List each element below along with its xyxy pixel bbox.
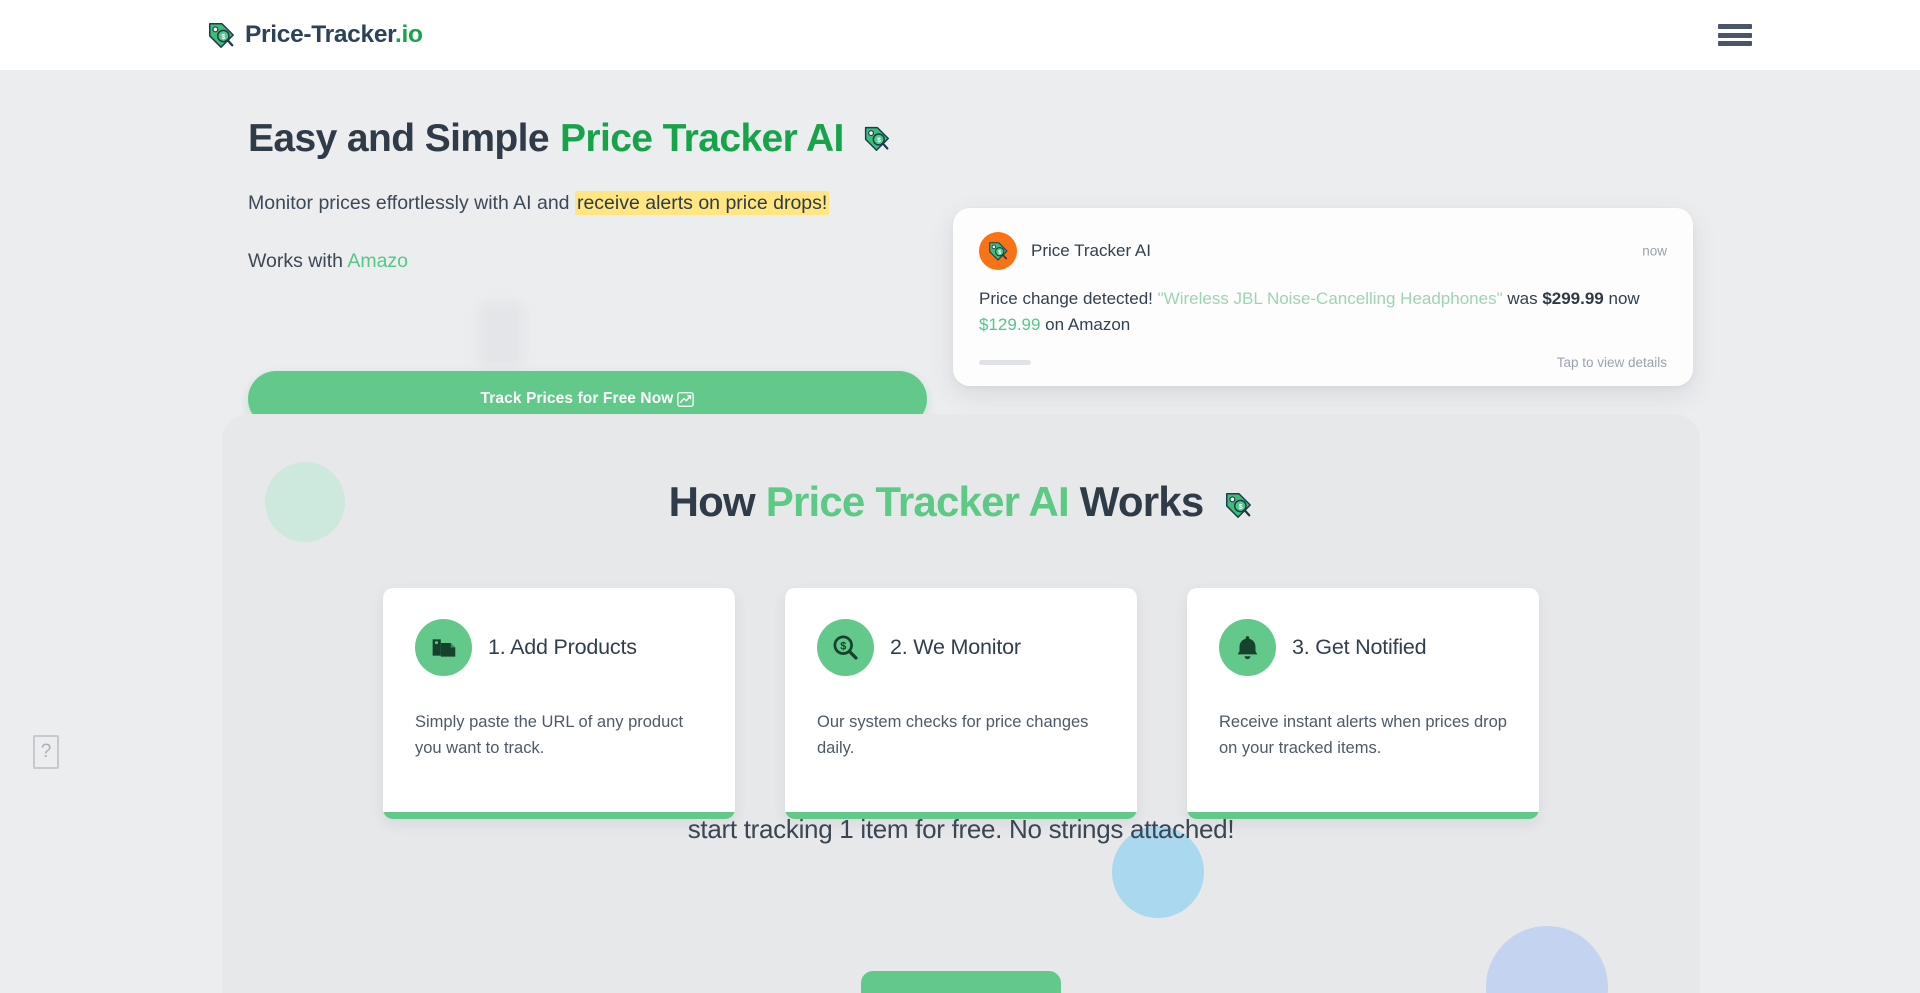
hamburger-menu-icon[interactable] xyxy=(1718,22,1752,48)
missing-glyph-placeholder: ? xyxy=(33,735,59,769)
svg-text:$: $ xyxy=(998,250,1001,256)
step-card-we-monitor[interactable]: $ 2. We Monitor Our system checks for pr… xyxy=(785,588,1137,819)
hero-title-accent: Price Tracker AI xyxy=(549,115,844,163)
hero-works-with: Works with Amazo xyxy=(248,250,968,273)
notification-product-name: "Wireless JBL Noise-Cancelling Headphone… xyxy=(1158,289,1503,308)
how-title-pre: How xyxy=(669,478,766,525)
step-card-title: 2. We Monitor xyxy=(890,635,1021,660)
step-card-header: $ 2. We Monitor xyxy=(817,619,1105,676)
line-chart-icon xyxy=(677,392,694,407)
notification-suffix: on Amazon xyxy=(1040,315,1130,334)
avatar: $ xyxy=(979,232,1017,270)
step-card-get-notified[interactable]: 3. Get Notified Receive instant alerts w… xyxy=(1187,588,1539,819)
notification-was-label: was xyxy=(1503,289,1543,308)
hamburger-bar-3 xyxy=(1718,41,1752,46)
free-tier-tagline: start tracking 1 item for free. No strin… xyxy=(222,814,1700,845)
notification-timestamp: now xyxy=(1642,244,1667,259)
hero-copy: Easy and SimplePrice Tracker AI $ Monito… xyxy=(248,115,968,273)
step-icon-wrapper xyxy=(415,619,472,676)
step-icon-wrapper: $ xyxy=(817,619,874,676)
brand-logo[interactable]: $ Price-Tracker.io xyxy=(206,20,423,50)
brand-name-tld: .io xyxy=(395,21,423,48)
hero-works-typed-value: Amazo xyxy=(347,250,408,272)
brand-name-dark: Price-Tracker xyxy=(245,21,395,48)
hero-section: Easy and SimplePrice Tracker AI $ Monito… xyxy=(0,70,1920,410)
magnifier-dollar-icon: $ xyxy=(831,633,860,662)
step-card-header: 3. Get Notified xyxy=(1219,619,1507,676)
copy-tag-icon xyxy=(429,633,458,662)
notification-tap-hint: Tap to view details xyxy=(1557,355,1667,370)
svg-text:$: $ xyxy=(840,640,846,652)
how-it-works-section: How Price Tracker AI Works$ 1. Add Produ… xyxy=(222,414,1700,993)
hamburger-bar-1 xyxy=(1718,24,1752,29)
notification-footer: Tap to view details xyxy=(979,355,1667,370)
notification-now-label: now xyxy=(1604,289,1640,308)
notification-body-prefix: Price change detected! xyxy=(979,289,1158,308)
step-card-description: Receive instant alerts when prices drop … xyxy=(1219,710,1507,761)
notification-app-name: Price Tracker AI xyxy=(1031,241,1151,261)
price-tag-icon: $ xyxy=(862,124,891,153)
step-card-description: Simply paste the URL of any product you … xyxy=(415,710,703,761)
hero-subtitle-plain: Monitor prices effortlessly with AI and xyxy=(248,192,575,214)
cta-hero-label: Track Prices for Free Now xyxy=(481,390,674,408)
price-tag-icon: $ xyxy=(987,240,1009,262)
step-card-description: Our system checks for price changes dail… xyxy=(817,710,1105,761)
hero-title-plain: Easy and Simple xyxy=(248,115,549,163)
how-title-post: Works xyxy=(1069,478,1203,525)
step-card-header: 1. Add Products xyxy=(415,619,703,676)
bell-icon xyxy=(1233,633,1262,662)
price-alert-notification-card[interactable]: $ Price Tracker AI now Price change dete… xyxy=(953,208,1693,386)
how-it-works-title: How Price Tracker AI Works$ xyxy=(222,478,1700,526)
step-icon-wrapper xyxy=(1219,619,1276,676)
step-card-add-products[interactable]: 1. Add Products Simply paste the URL of … xyxy=(383,588,735,819)
steps-card-list: 1. Add Products Simply paste the URL of … xyxy=(222,588,1700,819)
notification-body: Price change detected! "Wireless JBL Noi… xyxy=(979,286,1667,339)
hero-works-label: Works with xyxy=(248,250,347,272)
hamburger-bar-2 xyxy=(1718,33,1752,38)
notification-old-price: $299.99 xyxy=(1542,289,1603,308)
hero-title: Easy and SimplePrice Tracker AI $ xyxy=(248,115,968,163)
notification-progress-bar xyxy=(979,360,1031,365)
brand-name: Price-Tracker.io xyxy=(245,21,423,49)
notification-new-price: $129.99 xyxy=(979,315,1040,334)
landing-page: $ Price-Tracker.io Easy and SimplePrice … xyxy=(0,0,1920,993)
svg-text:$: $ xyxy=(221,34,225,41)
how-title-accent: Price Tracker AI xyxy=(766,478,1069,525)
hero-subtitle-highlight: receive alerts on price drops! xyxy=(575,191,829,215)
price-tag-icon: $ xyxy=(1223,490,1253,520)
bottom-cta-button[interactable] xyxy=(861,971,1061,993)
price-tag-magnifier-icon: $ xyxy=(206,20,236,50)
decorative-circle-periwinkle xyxy=(1486,926,1608,993)
hero-subtitle: Monitor prices effortlessly with AI and … xyxy=(248,189,968,217)
site-header: $ Price-Tracker.io xyxy=(0,0,1920,70)
step-card-title: 1. Add Products xyxy=(488,635,637,660)
step-card-title: 3. Get Notified xyxy=(1292,635,1426,660)
notification-header: $ Price Tracker AI now xyxy=(979,232,1667,270)
decorative-ghost-shape xyxy=(478,302,524,368)
